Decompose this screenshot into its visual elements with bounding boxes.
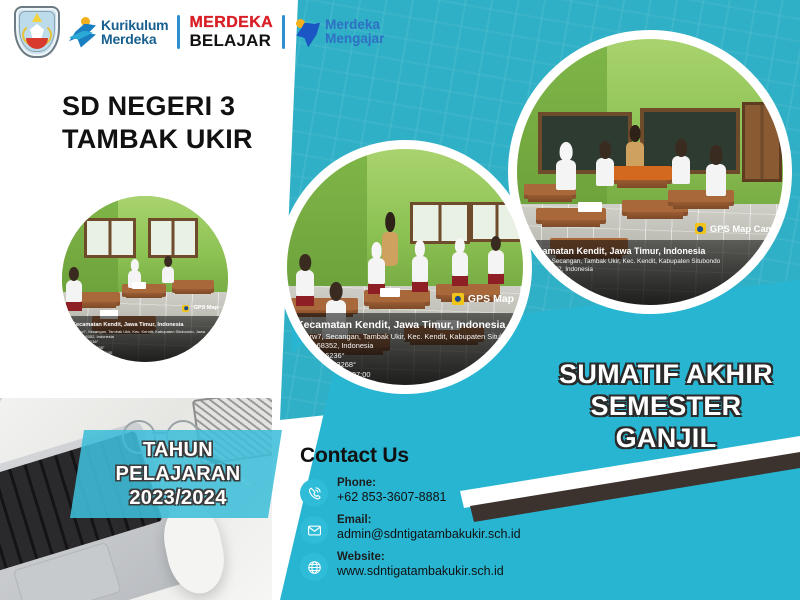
contact-row-email: Email: admin@sdntigatambakukir.sch.id [300, 514, 550, 544]
school-title-line2: TAMBAK UKIR [62, 123, 312, 156]
gps-map-camera-icon [695, 223, 706, 234]
kurikulum-merdeka-line2: Merdeka [101, 32, 168, 47]
photo-center: GPS Map Kecamatan Kendit, Jawa Timur, In… [286, 148, 524, 386]
academic-year-line1: TAHUN [116, 438, 241, 462]
merdeka-mengajar-line2: Mengajar [325, 32, 384, 46]
gps-badge-label: GPS Map [468, 293, 514, 305]
government-emblem-icon [14, 6, 60, 58]
poster-canvas: Kurikulum Merdeka MERDEKA BELAJAR Merdek… [0, 0, 800, 600]
email-icon [300, 516, 328, 544]
website-icon [300, 553, 328, 581]
merdeka-belajar-line1: MERDEKA [189, 14, 273, 31]
event-title: SUMATIF AKHIR SEMESTER GANJIL [540, 358, 792, 454]
gps-address-line1: Rt1 rw7, Secangan, Tambak Ukir, Kec. Ken… [526, 258, 776, 266]
merdeka-belajar-line2: BELAJAR [189, 32, 273, 50]
gps-latitude: Lat -7.756236° [296, 351, 516, 360]
academic-year-line2: PELAJARAN [116, 462, 241, 486]
merdeka-mengajar-line1: Merdeka [325, 18, 384, 32]
contact-row-website: Website: www.sdntigatambakukir.sch.id [300, 551, 550, 581]
kurikulum-merdeka-line1: Kurikulum [101, 18, 168, 33]
gps-longitude: Long 113.923268° [296, 360, 516, 369]
contact-label-website: Website: [337, 551, 504, 565]
merdeka-mengajar-logo: Merdeka Mengajar [294, 17, 384, 48]
gps-timestamp: 07:34 AM GMT +07:00 [296, 370, 516, 379]
gps-title: Kecamatan Kendit, Jawa Timur, Indonesia [72, 322, 220, 329]
gps-timestamp: 07:34 AM GMT +07:00 [72, 350, 220, 355]
gps-address-line2: Timur 68352, Indonesia [296, 341, 516, 350]
logo-divider-1 [177, 15, 180, 49]
gps-map-camera-icon [452, 293, 464, 305]
gps-longitude: 113.923268° [526, 283, 776, 291]
contact-row-phone: Phone: +62 853-3607-8881 [300, 477, 550, 507]
gps-overlay-center: GPS Map Kecamatan Kendit, Jawa Timur, In… [286, 313, 524, 386]
school-title: SD NEGERI 3 TAMBAK UKIR [62, 90, 312, 156]
academic-year-box: TAHUN PELAJARAN 2023/2024 [70, 430, 282, 518]
kurikulum-merdeka-icon [69, 17, 96, 48]
gps-overlay-right: GPS Map Cam Kecamatan Kendit, Jawa Timur… [516, 240, 784, 306]
gps-overlay-left: GPS Map Kecamatan Kendit, Jawa Timur, In… [62, 316, 228, 362]
gps-address-line2: Timur 68352, Indonesia [526, 266, 776, 274]
gps-badge-label: GPS Map Cam [710, 223, 774, 234]
merdeka-belajar-logo: MERDEKA BELAJAR [189, 14, 273, 50]
gps-badge-label: GPS Map [193, 305, 218, 311]
contact-label-phone: Phone: [337, 477, 446, 491]
logo-divider-2 [282, 15, 285, 49]
photo-left-small: GPS Map Kecamatan Kendit, Jawa Timur, In… [62, 196, 228, 362]
photo-right: GPS Map Cam Kecamatan Kendit, Jawa Timur… [516, 38, 784, 306]
contact-label-email: Email: [337, 514, 521, 528]
gps-timestamp: AM GMT +07:00 [526, 291, 776, 299]
phone-icon [300, 479, 328, 507]
contact-section: Contact Us Phone: +62 853-3607-8881 [300, 444, 550, 588]
event-title-line3: GANJIL [540, 422, 792, 454]
gps-map-camera-icon [182, 305, 189, 312]
contact-value-email[interactable]: admin@sdntigatambakukir.sch.id [337, 528, 521, 542]
contact-value-website[interactable]: www.sdntigatambakukir.sch.id [337, 565, 504, 579]
kurikulum-merdeka-logo: Kurikulum Merdeka [69, 17, 168, 48]
gps-title: Kecamatan Kendit, Jawa Timur, Indonesia [296, 319, 516, 332]
contact-heading: Contact Us [300, 444, 550, 468]
academic-year-line3: 2023/2024 [116, 486, 241, 510]
school-title-line1: SD NEGERI 3 [62, 90, 312, 123]
gps-title: Kecamatan Kendit, Jawa Timur, Indonesia [526, 246, 776, 258]
merdeka-mengajar-icon [294, 17, 320, 48]
header-logo-bar: Kurikulum Merdeka MERDEKA BELAJAR Merdek… [0, 0, 800, 62]
gps-address-line1: Rt1 rw7, Secangan, Tambak Ukir, Kec. Ken… [296, 332, 516, 341]
contact-value-phone[interactable]: +62 853-3607-8881 [337, 491, 446, 505]
event-title-line1: SUMATIF AKHIR [540, 358, 792, 390]
gps-latitude: -7.756236° [526, 274, 776, 282]
event-title-line2: SEMESTER [540, 390, 792, 422]
